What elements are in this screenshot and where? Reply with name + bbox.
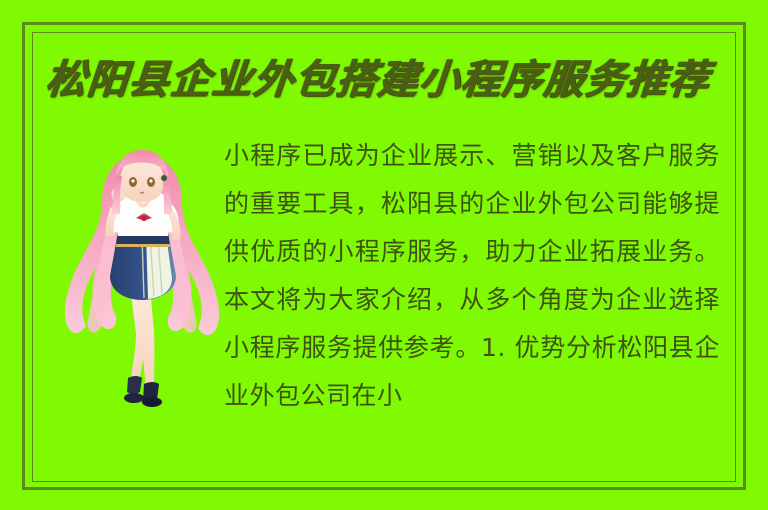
poster-body-text: 小程序已成为企业展示、营销以及客户服务的重要工具，松阳县的企业外包公司能够提供优… — [224, 132, 720, 420]
anime-girl-illustration — [58, 136, 226, 408]
poster-title: 松阳县企业外包搭建小程序服务推荐 — [44, 58, 728, 101]
poster-canvas: 松阳县企业外包搭建小程序服务推荐 — [0, 0, 768, 510]
dress — [110, 232, 176, 300]
legs — [124, 286, 162, 407]
